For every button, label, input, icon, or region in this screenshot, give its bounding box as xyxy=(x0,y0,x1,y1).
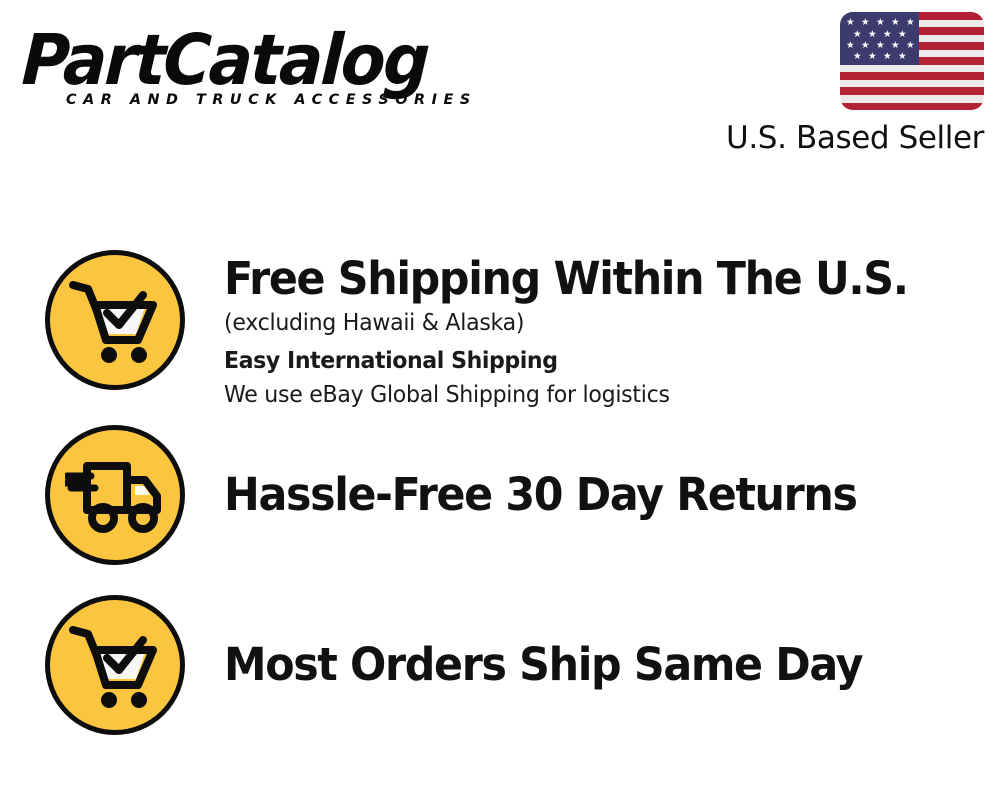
feature-heading: Hassle-Free 30 Day Returns xyxy=(224,468,961,522)
flag-star-icon: ★ xyxy=(906,18,915,28)
flag-star-icon: ★ xyxy=(906,41,915,51)
feature-text: Hassle-Free 30 Day Returns xyxy=(224,468,1000,522)
flag-star-icon: ★ xyxy=(868,30,877,40)
feature-heading: Most Orders Ship Same Day xyxy=(224,638,961,692)
flag-stripe xyxy=(840,72,984,80)
feature-text: Free Shipping Within The U.S. (excluding… xyxy=(224,250,1000,412)
shopping-cart-check-icon xyxy=(45,595,185,735)
flag-star-icon: ★ xyxy=(891,41,900,51)
brand-tagline: CAR AND TRUCK ACCESSORIES xyxy=(66,92,477,108)
feature-sub-bold: Easy International Shipping xyxy=(224,345,969,378)
feature-sub-light: We use eBay Global Shipping for logistic… xyxy=(224,379,969,412)
feature-row: Hassle-Free 30 Day Returns xyxy=(0,420,1000,570)
shopping-cart-check-icon xyxy=(45,250,185,390)
flag-star-icon: ★ xyxy=(853,30,862,40)
flag-star-icon: ★ xyxy=(876,18,885,28)
flag-star-icon: ★ xyxy=(861,18,870,28)
flag-star-icon: ★ xyxy=(861,41,870,51)
flag-star-icon: ★ xyxy=(898,30,907,40)
flag-star-icon: ★ xyxy=(883,30,892,40)
feature-heading: Free Shipping Within The U.S. xyxy=(224,252,961,306)
flag-star-icon: ★ xyxy=(868,52,877,62)
feature-text: Most Orders Ship Same Day xyxy=(224,638,1000,692)
header-bar: PartCatalog CAR AND TRUCK ACCESSORIES ★ … xyxy=(0,0,1000,175)
flag-star-icon: ★ xyxy=(846,41,855,51)
flag-star-icon: ★ xyxy=(891,18,900,28)
flag-star-icon: ★ xyxy=(883,52,892,62)
flag-stripe xyxy=(840,87,984,95)
flag-star-icon: ★ xyxy=(853,52,862,62)
flag-star-icon: ★ xyxy=(898,52,907,62)
flag-star-icon: ★ xyxy=(876,41,885,51)
flag-stripe xyxy=(840,103,984,111)
delivery-truck-icon xyxy=(45,425,185,565)
brand-logo[interactable]: PartCatalog CAR AND TRUCK ACCESSORIES xyxy=(24,22,494,117)
us-flag-icon: ★ ★ ★ ★ ★ ★ ★ ★ ★ ★ ★ ★ ★ ★ ★ ★ ★ ★ xyxy=(840,12,984,110)
feature-subnote: (excluding Hawaii & Alaska) xyxy=(224,307,969,340)
brand-wordmark: PartCatalog xyxy=(20,22,429,98)
seller-badge-label: U.S. Based Seller xyxy=(726,119,984,157)
feature-row: Free Shipping Within The U.S. (excluding… xyxy=(0,250,1000,400)
flag-star-icon: ★ xyxy=(846,18,855,28)
feature-row: Most Orders Ship Same Day xyxy=(0,590,1000,740)
